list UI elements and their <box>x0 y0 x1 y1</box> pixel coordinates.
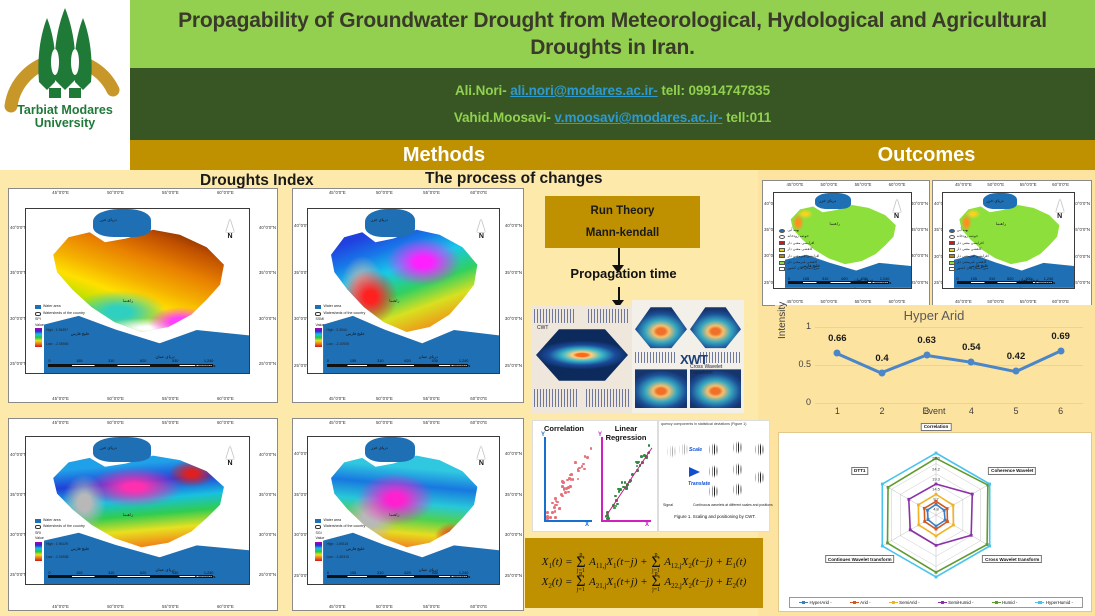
propagation-time-label: Propagation time <box>566 266 681 281</box>
line-chart-point[interactable] <box>923 352 930 359</box>
scale-unit: Kilometers <box>195 363 216 368</box>
north-arrow-icon: N <box>1052 199 1068 220</box>
radar-ring-value: 9.7 <box>933 497 939 502</box>
scale-bar-graphic <box>48 575 213 578</box>
radar-marker <box>986 543 989 546</box>
correlation-dot <box>560 493 563 496</box>
radar-ring-value: 29.0 <box>932 456 940 461</box>
reg-y-label: Y <box>598 432 602 438</box>
scale-bar-graphic <box>327 575 468 578</box>
legend-swatch-icon <box>949 248 955 252</box>
correlation-dot <box>559 507 562 510</box>
outcome-map-2: 45°0'0"E50°0'0"E55°0'0"E60°0'0"E 45°0'0"… <box>932 180 1092 306</box>
water-swatch-icon <box>315 305 321 309</box>
university-logo: Tarbiat Modares University <box>0 0 130 140</box>
correlation-dot <box>562 481 565 484</box>
lon-ticks-bottom: 45°0'0"E50°0'0"E55°0'0"E60°0'0"E <box>9 604 277 609</box>
ramp-high: High : 1.89115 <box>326 542 348 547</box>
scale-unit: Kilometers <box>871 280 892 285</box>
watershed-swatch-icon <box>315 312 321 316</box>
line-chart-segment <box>926 354 971 363</box>
legend-label: Watersheds of the country <box>323 524 365 529</box>
legend-title: راهنما <box>315 512 399 517</box>
lat-ticks-right: 40°0'0"N35°0'0"N30°0'0"N25°0'0"N <box>505 189 522 402</box>
watershed-swatch-icon <box>315 525 321 529</box>
reg-y-axis <box>601 437 603 521</box>
hyper-arid-line-chart: Hyper Arid Intensity 00.510.6610.420.633… <box>775 305 1093 427</box>
xwt-caption: Cross Wavelet Transform <box>690 364 744 376</box>
line-chart-value-label: 0.69 <box>1051 331 1070 342</box>
legend-label: مرز استان های کشور <box>957 266 989 271</box>
value-ramp: High : 2.3944 Low : -2.10935 <box>315 328 399 347</box>
legend-label: کاهشی معنی دار <box>787 247 812 252</box>
wavelet-label: Scale <box>689 447 702 453</box>
ramp-low: Low : -1.89315 <box>326 555 348 560</box>
sum-upper-3: p <box>579 569 582 579</box>
scale-bar: 01553106209301,240 Kilometers <box>788 277 890 285</box>
line-chart-point[interactable] <box>879 369 886 376</box>
legend-label: کاهشی غیرمعنی دار <box>787 260 817 265</box>
line-chart-gridline <box>815 327 1083 328</box>
lon-ticks-bottom: 45°0'0"E50°0'0"E55°0'0"E60°0'0"E <box>933 299 1091 304</box>
outcome-map-1: 45°0'0"E50°0'0"E55°0'0"E60°0'0"E 45°0'0"… <box>762 180 930 306</box>
author-2-tel: tell:011 <box>726 110 771 125</box>
map-frame: دریای خزر خلیج فارس دریای عمان N راهنما … <box>307 436 500 585</box>
regression-dot <box>636 461 639 464</box>
transform-arrow-icon <box>689 467 700 477</box>
sum-upper-4: p <box>655 569 658 579</box>
legend-label: حوضه رودخانه <box>787 234 808 239</box>
legend-title: راهنما <box>35 512 133 517</box>
correlation-dot <box>549 516 552 519</box>
line-chart-value-label: 0.54 <box>962 342 981 353</box>
legend-item-water: Water area <box>315 304 399 309</box>
oman-sea-label: دریای عمان <box>419 354 438 359</box>
radar-marker <box>926 509 929 512</box>
north-letter: N <box>222 233 238 240</box>
radar-axis-label: DTT1 <box>851 467 868 475</box>
radar-marker <box>988 545 991 548</box>
author-1-name: Ali.Nori- <box>455 83 507 98</box>
map-legend: راهنما Water area Watersheds of the coun… <box>35 298 133 347</box>
correlation-dot <box>590 447 593 450</box>
research-poster: Tarbiat Modares University Propagability… <box>0 0 1095 616</box>
scale-bar: 01553106209301,240 Kilometers <box>327 571 468 579</box>
radar-axis-label: Correlation <box>921 423 952 431</box>
value-ramp: High : 1.96129 Low : -2.00938 <box>35 542 133 561</box>
legend-item: مرز استان های کشور <box>779 266 839 271</box>
legend-item: پهنه آبی <box>949 228 1007 233</box>
radar-ring-value: 19.3 <box>932 476 940 481</box>
caspian-label: دریای خزر <box>819 198 836 203</box>
reg-x-axis <box>601 520 651 522</box>
equation-2: X2(t) = pΣj=1 A21,jX1(t+j) + pΣj=1 A22,j… <box>542 576 747 590</box>
radar-chart: CorrelationCoherence WaveletCross Wavele… <box>778 432 1092 612</box>
ramp-high: High : 1.96129 <box>46 542 68 547</box>
lat-ticks-right: 40°0'0"N35°0'0"N30°0'0"N25°0'0"N <box>911 181 928 305</box>
radar-marker <box>946 520 949 523</box>
legend-item: پهنه آبی <box>779 228 839 233</box>
linear-regression-title: Linear Regression <box>595 424 657 442</box>
legend-label: Water area <box>323 518 341 523</box>
correlation-dot <box>577 478 580 481</box>
legend-title: راهنما <box>35 298 133 303</box>
spi-map: 45°0'0"E50°0'0"E55°0'0"E60°0'0"E 45°0'0"… <box>8 188 278 403</box>
north-arrow-icon: N <box>473 219 489 240</box>
radar-marker <box>971 493 974 496</box>
poster-title-band: Propagability of Groundwater Drought fro… <box>130 0 1095 68</box>
correlation-dot <box>546 515 549 518</box>
watershed-swatch-icon <box>35 525 41 529</box>
radar-marker <box>909 528 912 531</box>
legend-item: کاهشی معنی دار <box>779 247 839 252</box>
corr-x-label: X <box>585 522 589 528</box>
legend-label: حوضه رودخانه <box>957 234 978 239</box>
legend-label: افزایشی غیرمعنی دار <box>787 254 819 259</box>
correlation-dot <box>568 477 571 480</box>
radar-legend-key-icon <box>1035 602 1044 604</box>
north-arrow-icon: N <box>889 199 905 220</box>
line-chart-segment <box>971 361 1016 373</box>
line-chart-title: Hyper Arid <box>775 308 1093 323</box>
lon-ticks-bottom: 45°0'0"E50°0'0"E55°0'0"E60°0'0"E <box>9 396 277 401</box>
regression-dot <box>640 455 643 458</box>
legend-title: راهنما <box>315 298 399 303</box>
correlation-dot <box>553 506 556 509</box>
north-letter: N <box>222 460 238 467</box>
correlation-dot <box>546 511 549 514</box>
north-letter: N <box>1052 213 1068 220</box>
line-chart-xlabel: Event <box>775 406 1093 416</box>
ssi-map: 45°0'0"E50°0'0"E55°0'0"E60°0'0"E 45°0'0"… <box>292 188 524 403</box>
radar-legend-item[interactable]: HyperArid - <box>799 600 832 605</box>
map-legend: راهنما Water area Watersheds of the coun… <box>35 512 133 561</box>
scale-bar-graphic <box>327 364 468 367</box>
logo-text-line2: University <box>3 117 127 130</box>
radar-marker <box>917 503 920 506</box>
legend-title: راهنما <box>949 221 1007 226</box>
legend-swatch-icon <box>779 229 785 233</box>
scale-bar: 01553106209301,240 Kilometers <box>327 359 468 367</box>
contact-row-2: Vahid.Moosavi- v.moosavi@modares.ac.ir- … <box>454 110 771 125</box>
legend-label: افزایشی معنی دار <box>787 241 814 246</box>
legend-label: کاهشی غیرمعنی دار <box>957 260 987 265</box>
legend-label: Water area <box>43 518 61 523</box>
radar-marker <box>923 507 926 510</box>
radar-marker <box>881 545 884 548</box>
radar-marker <box>952 524 955 527</box>
lon-ticks-top: 45°0'0"E50°0'0"E55°0'0"E60°0'0"E <box>293 190 523 195</box>
radar-marker <box>988 483 991 486</box>
signal-label: Signal <box>663 503 673 507</box>
legend-swatch-icon <box>949 261 955 265</box>
radar-legend-label: SemiArid - <box>899 600 920 605</box>
line-chart-point[interactable] <box>834 349 841 356</box>
corr-y-label: Y <box>541 432 545 438</box>
north-letter: N <box>473 233 489 240</box>
poster-title: Propagability of Groundwater Drought fro… <box>144 7 1081 61</box>
legend-label: پهنه آبی <box>957 228 969 233</box>
legend-item-watersheds: Watersheds of the country <box>315 311 399 316</box>
correlation-dot <box>563 487 566 490</box>
oman-sea-label: دریای عمان <box>155 354 174 359</box>
line-chart-gridline <box>815 365 1083 366</box>
lon-ticks-top: 45°0'0"E50°0'0"E55°0'0"E60°0'0"E <box>763 182 929 187</box>
north-arrow-icon: N <box>222 446 238 467</box>
caspian-sea <box>365 209 415 237</box>
legend-item-watersheds: Watersheds of the country <box>35 311 133 316</box>
lon-ticks-top: 45°0'0"E50°0'0"E55°0'0"E60°0'0"E <box>9 190 277 195</box>
legend-label: کاهشی معنی دار <box>957 247 982 252</box>
value-ramp: High : 1.89115 Low : -1.89315 <box>315 542 399 561</box>
scale-numbers: 01553106209301,240 <box>327 359 468 363</box>
radar-legend-item[interactable]: SemiArid - <box>889 600 920 605</box>
legend-swatch-icon <box>779 254 785 258</box>
cwt-right-caption: Continuous wavelets at different scales … <box>693 503 773 507</box>
line-chart-value-label: 0.4 <box>875 353 888 364</box>
equation-1: X1(t) = pΣj=1 A11,jX1(t−j) + pΣj=1 A12,j… <box>542 556 747 570</box>
ramp-low: Low : -2.00938 <box>46 555 68 560</box>
radar-marker <box>881 483 884 486</box>
ramp-low: Low : -2.05945 <box>46 342 68 347</box>
legend-item-watersheds: Watersheds of the country <box>315 524 399 529</box>
color-ramp-icon <box>315 328 322 347</box>
author-2-name: Vahid.Moosavi- <box>454 110 551 125</box>
regression-dot <box>648 444 651 447</box>
radar-marker <box>927 518 930 521</box>
radar-marker <box>907 498 910 501</box>
legend-swatch-icon <box>949 267 955 271</box>
legend-item-water: Water area <box>35 518 133 523</box>
caspian-sea <box>93 437 151 462</box>
sum-upper-1: p <box>579 550 582 560</box>
ramp-high: High : 2.3944 <box>326 328 348 333</box>
correlation-dot <box>577 470 580 473</box>
correlation-dot <box>570 473 573 476</box>
scale-unit: Kilometers <box>195 574 216 579</box>
legend-item: افزایشی معنی دار <box>779 241 839 246</box>
correlation-dot <box>554 510 557 513</box>
contact-band: Ali.Nori- ali.nori@modares.ac.ir- tell: … <box>130 68 1095 140</box>
legend-swatch-icon <box>949 241 955 245</box>
legend-swatch-icon <box>779 235 785 239</box>
radar-marker <box>917 524 920 527</box>
legend-item: کاهشی غیرمعنی دار <box>779 260 839 265</box>
scale-bar: 01553106209301,240 Kilometers <box>48 571 213 579</box>
legend-item: حوضه رودخانه <box>779 234 839 239</box>
map-frame: دریای خزر خلیج فارس دریای عمان N راهنما … <box>942 192 1075 289</box>
radar-marker <box>935 493 938 496</box>
legend-label: مرز استان های کشور <box>787 266 819 271</box>
color-ramp-icon <box>315 542 322 561</box>
map-legend: راهنما پهنه آبی حوضه رودخانه افزایشی معن… <box>779 221 839 272</box>
scale-bar: 01553106209301,240 Kilometers <box>957 277 1054 285</box>
line-chart-point[interactable] <box>1013 368 1020 375</box>
regression-dot <box>621 481 624 484</box>
radar-marker <box>935 576 938 579</box>
line-chart-ylabel: Intensity <box>777 302 788 339</box>
map-legend: راهنما Water area Watersheds of the coun… <box>315 298 399 347</box>
legend-swatch-icon <box>779 241 785 245</box>
correlation-dot <box>555 504 558 507</box>
xwt-illustration-image: XWT Cross Wavelet Transform <box>632 300 744 413</box>
radar-marker <box>887 486 890 489</box>
regression-dot <box>615 505 618 508</box>
left-white-bar <box>0 140 130 170</box>
radar-marker <box>944 519 947 522</box>
line-chart-gridline <box>815 403 1083 404</box>
line-chart-ytick: 0.5 <box>797 359 811 369</box>
legend-label: Watersheds of the country <box>323 311 365 316</box>
map-frame: دریای خزر خلیج فارس دریای عمان N راهنما … <box>25 208 250 374</box>
line-chart-point[interactable] <box>968 358 975 365</box>
author-1-email-link[interactable]: ali.nori@modares.ac.ir- <box>510 83 657 98</box>
legend-item-water: Water area <box>315 518 399 523</box>
caspian-sea <box>93 209 151 237</box>
water-swatch-icon <box>35 519 41 523</box>
caspian-label: دریای خزر <box>100 445 117 450</box>
map-frame: دریای خزر خلیج فارس دریای عمان N راهنما … <box>773 192 912 289</box>
legend-swatch-icon <box>779 267 785 271</box>
map-legend: راهنما Water area Watersheds of the coun… <box>315 512 399 561</box>
lon-ticks-top: 45°0'0"E50°0'0"E55°0'0"E60°0'0"E <box>293 420 523 425</box>
legend-swatch-icon <box>949 254 955 258</box>
radar-legend: HyperArid -Arid -SemiArid -SemiHumid -Hu… <box>789 597 1083 608</box>
caspian-label: دریای خزر <box>100 217 117 222</box>
run-theory-box: Run Theory Mann-kendall <box>545 196 700 248</box>
author-2-email-link[interactable]: v.moosavi@modares.ac.ir- <box>554 110 722 125</box>
cwt-figure-caption: Figure 1. Scaling and positioning by CWT… <box>662 514 768 519</box>
ramp-high: High : 1.94397 <box>46 328 68 333</box>
radar-marker <box>935 544 938 547</box>
radar-legend-label: Arid - <box>860 600 871 605</box>
caspian-label: دریای خزر <box>987 198 1004 203</box>
value-ramp: High : 1.94397 Low : -2.05945 <box>35 328 133 347</box>
lat-ticks-right: 40°0'0"N35°0'0"N30°0'0"N25°0'0"N <box>1073 181 1090 305</box>
correlation-dot <box>565 487 568 490</box>
methods-banner: Methods <box>130 140 758 170</box>
radar-marker <box>935 528 938 531</box>
radar-marker <box>946 507 949 510</box>
north-arrow-icon: N <box>473 446 489 467</box>
legend-label: Watersheds of the country <box>43 524 85 529</box>
correlation-dot <box>554 516 557 519</box>
radar-legend-key-icon <box>938 602 947 604</box>
correlation-dot <box>551 511 554 514</box>
mann-kendall-label: Mann-kendall <box>586 227 659 239</box>
radar-legend-label: HyperArid - <box>809 600 831 605</box>
map-frame: دریای خزر خلیج فارس دریای عمان N راهنما … <box>25 436 250 585</box>
map-legend: راهنما پهنه آبی حوضه رودخانه افزایشی معن… <box>949 221 1007 272</box>
sum-lower-3: j=1 <box>577 585 585 595</box>
corr-y-axis <box>544 437 546 521</box>
cwt-illustration-image: CWT <box>532 305 632 413</box>
lon-ticks-bottom: 45°0'0"E50°0'0"E55°0'0"E60°0'0"E <box>293 604 523 609</box>
water-swatch-icon <box>35 305 41 309</box>
lon-ticks-bottom: 45°0'0"E50°0'0"E55°0'0"E60°0'0"E <box>293 396 523 401</box>
radar-ring-value: 24.2 <box>932 466 940 471</box>
lat-ticks-right: 40°0'0"N35°0'0"N30°0'0"N25°0'0"N <box>259 419 276 610</box>
radar-legend-item[interactable]: HyperHumid - <box>1035 600 1073 605</box>
legend-item: کاهشی غیرمعنی دار <box>949 260 1007 265</box>
correlation-dot <box>572 478 575 481</box>
legend-item: افزایشی غیرمعنی دار <box>779 254 839 259</box>
north-arrow-icon: N <box>222 219 238 240</box>
radar-marker <box>943 509 946 512</box>
sum-upper-2: p <box>654 550 657 560</box>
map-frame: دریای خزر خلیج فارس دریای عمان N راهنما … <box>307 208 500 374</box>
legend-label: Water area <box>323 304 341 309</box>
legend-item: کاهشی معنی دار <box>949 247 1007 252</box>
legend-swatch-icon <box>779 248 785 252</box>
cwt-top-caption: quency components in statistical deviati… <box>661 422 769 426</box>
legend-title: راهنما <box>779 221 839 226</box>
legend-swatch-icon <box>779 261 785 265</box>
scale-numbers: 01553106209301,240 <box>327 571 468 575</box>
radar-legend-item[interactable]: Arid - <box>850 600 871 605</box>
watershed-swatch-icon <box>35 312 41 316</box>
radar-marker <box>970 534 973 537</box>
legend-swatch-icon <box>949 235 955 239</box>
correlation-dot <box>567 491 570 494</box>
radar-legend-key-icon <box>799 602 808 604</box>
radar-marker <box>952 504 955 507</box>
radar-legend-key-icon <box>992 602 1001 604</box>
outcomes-banner: Outcomes <box>758 140 1095 170</box>
radar-axis-label: Coherence Wavelet <box>988 467 1036 475</box>
radar-marker <box>935 503 938 506</box>
radar-marker <box>935 525 938 528</box>
radar-legend-label: Humid - <box>1002 600 1017 605</box>
scale-unit: Kilometers <box>1035 280 1056 285</box>
correlation-regression-figure: Correlation Linear Regression Y X Y X <box>532 420 658 532</box>
north-letter: N <box>473 460 489 467</box>
lon-ticks-top: 45°0'0"E50°0'0"E55°0'0"E60°0'0"E <box>933 182 1091 187</box>
caspian-sea <box>365 437 415 462</box>
ramp-low: Low : -2.10935 <box>326 342 348 347</box>
scale-numbers: 01553106209301,240 <box>48 571 213 575</box>
scale-unit: Kilometers <box>450 574 471 579</box>
radar-marker <box>923 520 926 523</box>
radar-legend-item[interactable]: Humid - <box>992 600 1018 605</box>
radar-legend-key-icon <box>850 602 859 604</box>
regression-dot <box>614 495 617 498</box>
north-letter: N <box>889 213 905 220</box>
sum-lower-4: j=1 <box>652 585 660 595</box>
radar-marker <box>935 483 938 486</box>
sgi-map: 45°0'0"E50°0'0"E55°0'0"E60°0'0"E 45°0'0"… <box>292 418 524 611</box>
radar-legend-item[interactable]: SemiHumid - <box>938 600 974 605</box>
legend-label: افزایشی غیرمعنی دار <box>957 254 989 259</box>
lon-ticks-top: 45°0'0"E50°0'0"E55°0'0"E60°0'0"E <box>9 420 277 425</box>
lat-ticks-right: 40°0'0"N35°0'0"N30°0'0"N25°0'0"N <box>505 419 522 610</box>
water-swatch-icon <box>315 519 321 523</box>
cwt-scaling-figure: quency components in statistical deviati… <box>658 420 770 532</box>
legend-label: Watersheds of the country <box>43 311 85 316</box>
correlation-dot <box>564 491 567 494</box>
radar-ring-value: 14.5 <box>932 487 940 492</box>
legend-label: افزایشی معنی دار <box>957 241 984 246</box>
correlation-dot <box>586 456 589 459</box>
legend-item: افزایشی معنی دار <box>949 241 1007 246</box>
legend-item: حوضه رودخانه <box>949 234 1007 239</box>
line-chart-value-label: 0.66 <box>828 333 847 344</box>
caspian-label: دریای خزر <box>371 445 388 450</box>
legend-label: Water area <box>43 304 61 309</box>
radar-axis-label: Cross Wavelet transform <box>982 555 1042 563</box>
radar-marker <box>935 452 938 455</box>
line-chart-point[interactable] <box>1057 347 1064 354</box>
